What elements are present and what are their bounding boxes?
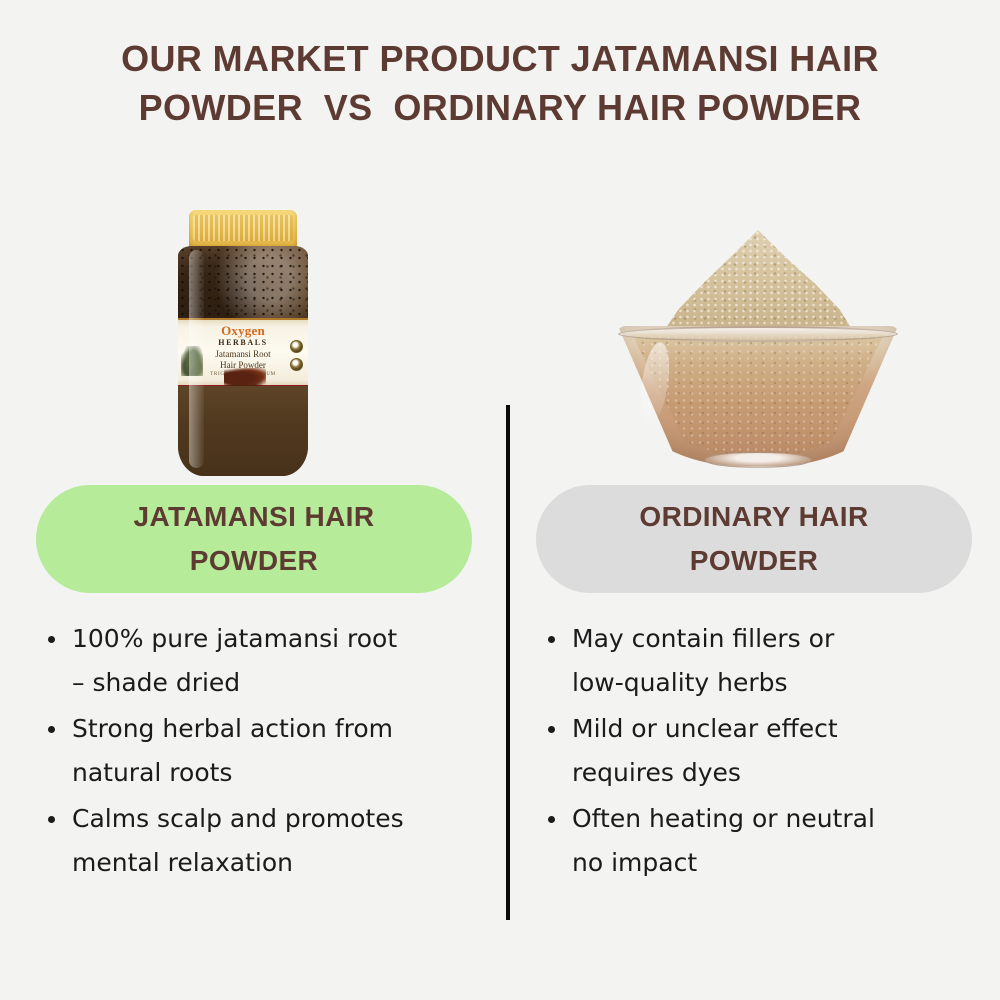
jar-powder-bottom: [178, 386, 308, 476]
list-item: Strong herbal action from natural roots: [36, 707, 496, 795]
certification-seal-icon: [290, 340, 303, 353]
product-jar-icon: Oxygen HERBALS Jatamansi Root Hair Powde…: [173, 210, 313, 478]
column-jatamansi: Oxygen HERBALS Jatamansi Root Hair Powde…: [18, 185, 490, 945]
column-divider: [506, 405, 510, 920]
heading-pill-jatamansi: JATAMANSI HAIR POWDER: [36, 485, 472, 593]
list-item-text: Strong herbal action from natural roots: [72, 714, 393, 787]
title-line-1: OUR MARKET PRODUCT JATAMANSI HAIR: [60, 34, 940, 83]
heading-pill-ordinary: ORDINARY HAIR POWDER: [536, 485, 972, 593]
bowl-rim: [618, 326, 898, 342]
list-item-text: Often heating or neutral no impact: [572, 804, 875, 877]
jar-powder-top: [178, 246, 308, 318]
title-line-2: POWDER VS ORDINARY HAIR POWDER: [60, 83, 940, 132]
bullet-dot-icon: [548, 726, 555, 733]
page-title: OUR MARKET PRODUCT JATAMANSI HAIR POWDER…: [60, 34, 940, 132]
jar-brand-name: Oxygen: [178, 324, 308, 337]
ordinary-product-image: [518, 185, 990, 480]
bowl-base: [704, 452, 812, 468]
comparison-columns: Oxygen HERBALS Jatamansi Root Hair Powde…: [0, 185, 1000, 945]
certification-seal-icon: [290, 358, 303, 371]
jar-sub-brand: HERBALS: [178, 338, 308, 347]
column-ordinary: ORDINARY HAIR POWDER May contain fillers…: [518, 185, 990, 945]
jar-label: Oxygen HERBALS Jatamansi Root Hair Powde…: [178, 318, 308, 388]
benefits-list-jatamansi: 100% pure jatamansi root – shade dried S…: [36, 617, 496, 887]
list-item: May contain fillers or low-quality herbs: [536, 617, 996, 705]
list-item: Calms scalp and promotes mental relaxati…: [36, 797, 496, 885]
list-item: Mild or unclear effect requires dyes: [536, 707, 996, 795]
dried-root-icon: [224, 368, 266, 388]
list-item: Often heating or neutral no impact: [536, 797, 996, 885]
product-bowl-icon: [618, 230, 898, 478]
list-item-text: 100% pure jatamansi root – shade dried: [72, 624, 397, 697]
drawbacks-list-ordinary: May contain fillers or low-quality herbs…: [536, 617, 996, 887]
list-item-text: Mild or unclear effect requires dyes: [572, 714, 838, 787]
bullet-dot-icon: [48, 726, 55, 733]
jar-cap: [189, 210, 297, 250]
jar-product-line-1: Jatamansi Root: [178, 349, 308, 359]
jar-body: Oxygen HERBALS Jatamansi Root Hair Powde…: [178, 246, 308, 476]
heading-text-jatamansi: JATAMANSI HAIR POWDER: [133, 495, 374, 583]
bullet-dot-icon: [548, 816, 555, 823]
list-item: 100% pure jatamansi root – shade dried: [36, 617, 496, 705]
jatamansi-product-image: Oxygen HERBALS Jatamansi Root Hair Powde…: [18, 185, 490, 480]
list-item-text: May contain fillers or low-quality herbs: [572, 624, 834, 697]
heading-text-ordinary: ORDINARY HAIR POWDER: [639, 495, 868, 583]
list-item-text: Calms scalp and promotes mental relaxati…: [72, 804, 404, 877]
bullet-dot-icon: [548, 636, 555, 643]
bullet-dot-icon: [48, 816, 55, 823]
bullet-dot-icon: [48, 636, 55, 643]
